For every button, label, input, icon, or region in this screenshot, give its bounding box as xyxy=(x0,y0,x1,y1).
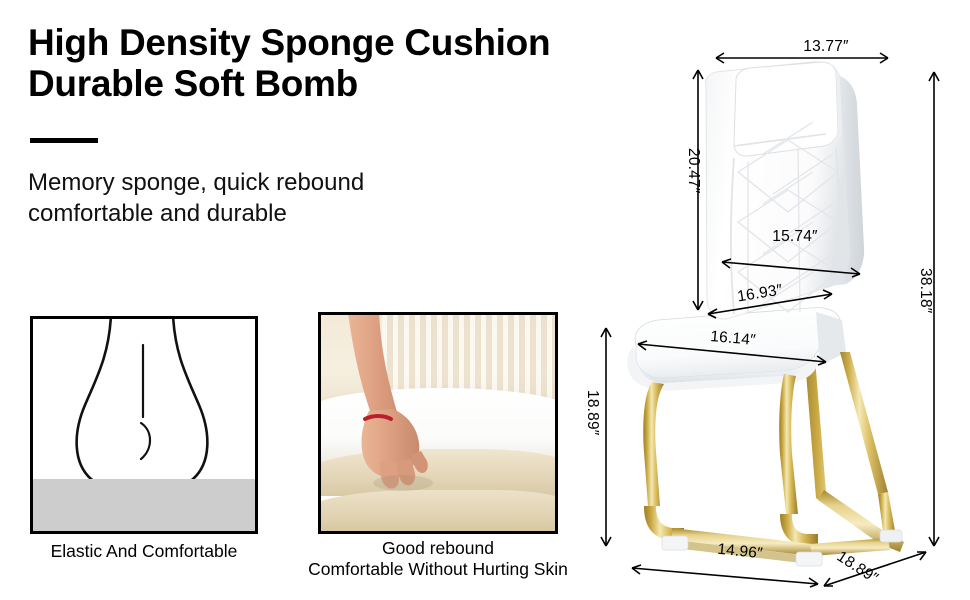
dimension-label-back-width: 15.74″ xyxy=(772,228,817,246)
cushion-surface-shading xyxy=(33,479,255,531)
caption-elastic-line-1: Elastic And Comfortable xyxy=(30,541,258,562)
dimension-label-total-height: 38.18″ xyxy=(916,268,934,313)
caption-rebound-line-1: Good rebound xyxy=(282,538,594,559)
dimension-label-width-top: 13.77″ xyxy=(803,38,848,56)
subtitle-line-1: Memory sponge, quick rebound xyxy=(28,168,498,199)
feature-image-elastic xyxy=(30,316,258,534)
subtitle-line-2: comfortable and durable xyxy=(28,199,498,230)
dimension-label-seat-width: 16.14″ xyxy=(710,328,757,350)
hand-pressing-foam xyxy=(321,315,555,531)
page-subtitle: Memory sponge, quick rebound comfortable… xyxy=(28,168,498,229)
chair-dimension-diagram xyxy=(588,22,970,600)
feature-image-rebound xyxy=(318,312,558,534)
chair-illustration xyxy=(627,62,904,566)
dimension-label-seat-height: 18.89″ xyxy=(583,390,601,435)
caption-rebound-line-2: Comfortable Without Hurting Skin xyxy=(282,559,594,580)
dimension-label-back-height: 20.47″ xyxy=(684,148,702,193)
feature-caption-rebound: Good rebound Comfortable Without Hurting… xyxy=(282,538,594,579)
feature-caption-elastic: Elastic And Comfortable xyxy=(30,541,258,562)
title-divider xyxy=(30,138,98,143)
product-infographic: High Density Sponge Cushion Durable Soft… xyxy=(0,0,970,600)
